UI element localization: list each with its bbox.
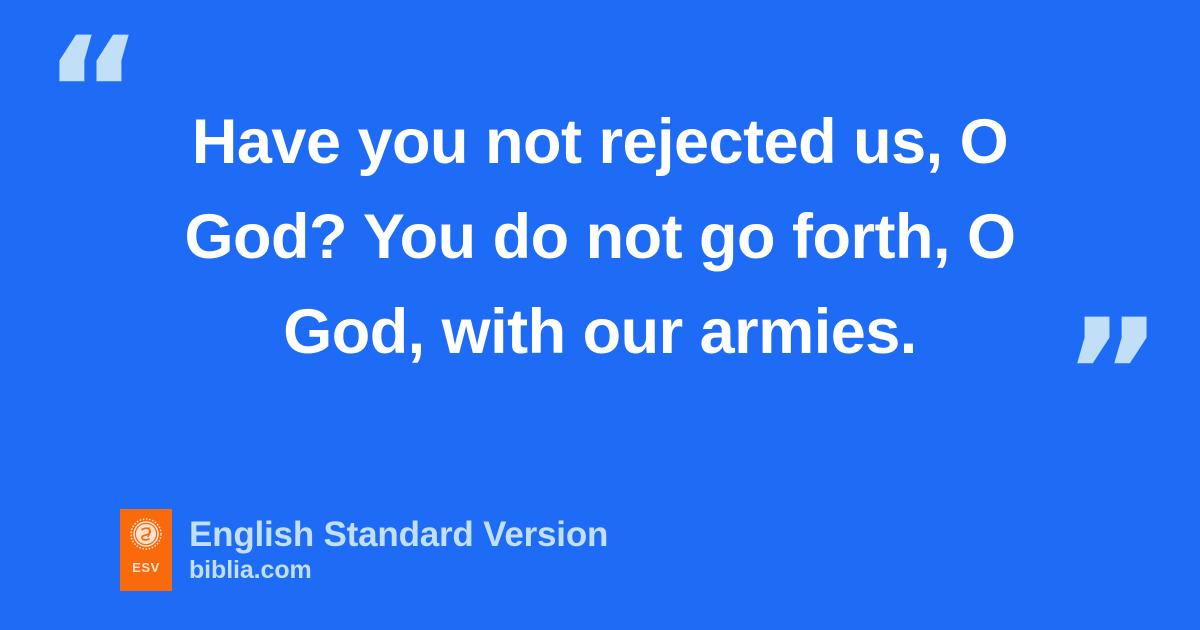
esv-logo: ESV (120, 509, 172, 591)
quote-line: God? You do not go forth, O (185, 190, 1016, 285)
quote-line: Have you not rejected us, O (192, 95, 1008, 190)
attribution-text: English Standard Version biblia.com (189, 515, 608, 585)
quote-line: God, with our armies. (283, 285, 917, 380)
quote-card: “ Have you not rejected us, O God? You d… (0, 0, 1200, 630)
esv-seal-icon (130, 518, 162, 550)
site-url[interactable]: biblia.com (189, 555, 608, 585)
quote-text-block: Have you not rejected us, O God? You do … (100, 95, 1100, 395)
bible-version-name: English Standard Version (189, 515, 608, 555)
esv-logo-label: ESV (132, 561, 160, 574)
attribution: ESV English Standard Version biblia.com (120, 509, 608, 591)
